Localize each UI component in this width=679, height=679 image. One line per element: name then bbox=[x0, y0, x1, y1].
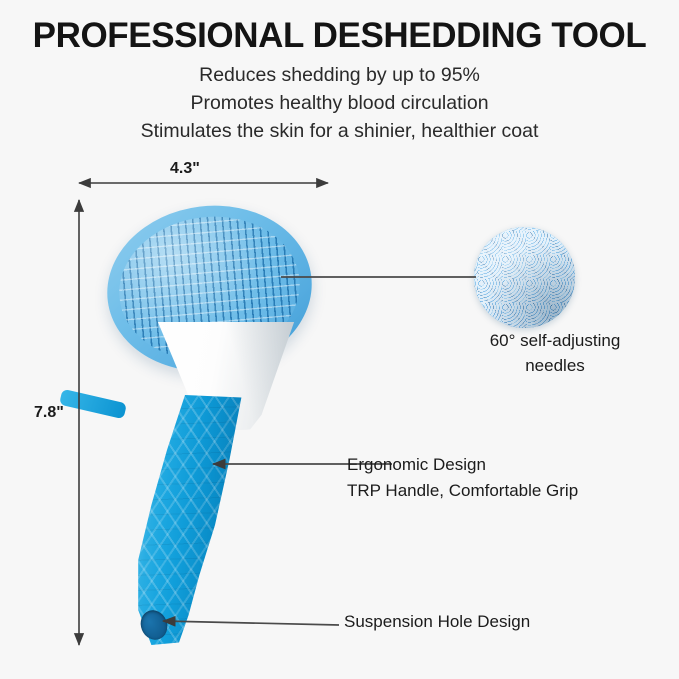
ergonomic-callout-line-2: TRP Handle, Comfortable Grip bbox=[347, 481, 578, 500]
suspension-leader-line bbox=[163, 621, 339, 625]
suspension-callout-line-1: Suspension Hole Design bbox=[344, 612, 530, 631]
width-dimension-label: 4.3" bbox=[170, 160, 200, 178]
height-dimension-label: 7.8" bbox=[34, 404, 64, 422]
infographic-canvas: PROFESSIONAL DESHEDDING TOOL Reduces she… bbox=[0, 0, 679, 679]
suspension-callout: Suspension Hole Design bbox=[344, 612, 530, 632]
ergonomic-callout: Ergonomic Design TRP Handle, Comfortable… bbox=[347, 452, 578, 504]
needles-callout: 60° self-adjusting needles bbox=[455, 328, 655, 378]
ergonomic-callout-line-1: Ergonomic Design bbox=[347, 455, 486, 474]
needles-callout-line-1: 60° self-adjusting bbox=[490, 331, 621, 350]
needles-callout-line-2: needles bbox=[525, 356, 585, 375]
